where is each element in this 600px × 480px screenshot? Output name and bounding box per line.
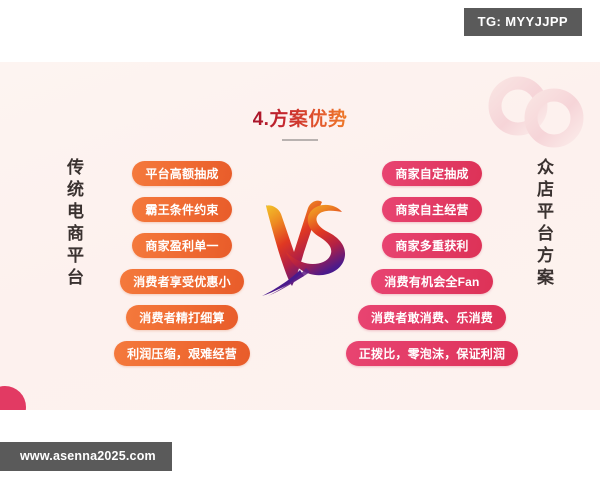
- watermark-bottom-left: www.asenna2025.com: [0, 442, 172, 472]
- title-underline: [282, 139, 318, 141]
- right-pill-column: 商家自定抽成 商家自主经营 商家多重获利 消费有机会全Fan 消费者敢消费、乐消…: [352, 161, 512, 366]
- left-axis-label: 传统电商平台: [48, 158, 82, 290]
- right-pill-6[interactable]: 正拨比，零泡沫，保证利润: [346, 341, 518, 366]
- slide-title: 4.方案优势: [253, 104, 348, 131]
- right-pill-3[interactable]: 商家多重获利: [382, 233, 481, 258]
- watermark-top-right: TG: MYYJJPP: [464, 8, 582, 36]
- slide-card: 4.方案优势 传统电商平台 众店平台方案 平台高额抽成 霸王条件约束 商家盈利单…: [0, 62, 600, 410]
- left-pill-column: 平台高额抽成 霸王条件约束 商家盈利单一 消费者享受优惠小 消费者精打细算 利润…: [108, 161, 256, 366]
- left-pill-5[interactable]: 消费者精打细算: [126, 305, 237, 330]
- pink-dot-decoration: [0, 386, 26, 410]
- right-axis-label: 众店平台方案: [518, 158, 552, 290]
- left-pill-3[interactable]: 商家盈利单一: [132, 233, 231, 258]
- right-pill-5[interactable]: 消费者敢消费、乐消费: [358, 305, 506, 330]
- right-pill-4[interactable]: 消费有机会全Fan: [371, 269, 492, 294]
- vs-brush-icon: [256, 190, 352, 300]
- left-pill-4[interactable]: 消费者享受优惠小: [120, 269, 244, 294]
- right-pill-2[interactable]: 商家自主经营: [382, 197, 481, 222]
- left-pill-2[interactable]: 霸王条件约束: [132, 197, 231, 222]
- left-pill-6[interactable]: 利润压缩，艰难经营: [114, 341, 250, 366]
- left-pill-1[interactable]: 平台高额抽成: [132, 161, 231, 186]
- slide-title-block: 4.方案优势: [0, 104, 600, 141]
- right-pill-1[interactable]: 商家自定抽成: [382, 161, 481, 186]
